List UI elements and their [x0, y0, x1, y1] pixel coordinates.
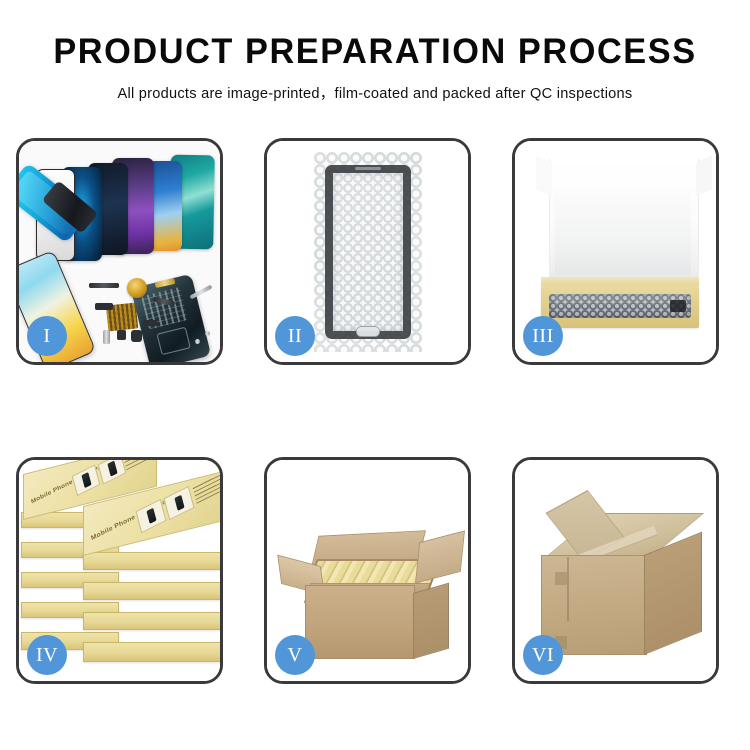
page-subtitle: All products are image-printed，film-coat… — [0, 71, 750, 103]
stacked-box — [83, 552, 220, 570]
sim-tray — [103, 330, 110, 344]
foam-insert — [555, 189, 691, 275]
step-badge-6: VI — [523, 635, 563, 675]
carton-seam — [567, 557, 569, 621]
box-artwork-right — [163, 486, 194, 520]
carton-side-face — [413, 583, 449, 659]
step-badge-5: V — [275, 635, 315, 675]
earpiece-mesh — [143, 320, 157, 326]
box-artwork-left — [72, 464, 101, 496]
stacked-box — [83, 642, 220, 662]
box-spec-text — [122, 460, 154, 470]
page-title: PRODUCT PREPARATION PROCESS — [8, 0, 743, 71]
step-badge-2: II — [275, 316, 315, 356]
stacked-box — [83, 582, 220, 600]
process-step-panel-3: III — [512, 138, 719, 365]
page-header: PRODUCT PREPARATION PROCESS All products… — [0, 0, 750, 103]
step-badge-4: IV — [27, 635, 67, 675]
process-step-panel-5: V — [264, 457, 471, 684]
stacked-box — [83, 612, 220, 630]
screw-1 — [195, 339, 200, 344]
wireless-charging-coil — [127, 278, 147, 298]
box-spec-text — [192, 472, 220, 504]
process-step-panel-6: VI — [512, 457, 719, 684]
process-step-panel-2: II — [264, 138, 471, 365]
process-step-grid: I II III — [16, 138, 734, 684]
screw-2 — [205, 331, 210, 336]
wrapped-screen — [325, 165, 411, 339]
box-artwork-right — [98, 460, 127, 485]
carton-front-face — [305, 585, 415, 659]
flex-cable-1 — [89, 283, 119, 288]
step-badge-1: I — [27, 316, 67, 356]
carton-tab-top — [555, 572, 567, 585]
packed-screen — [549, 294, 691, 318]
step-badge-3: III — [523, 316, 563, 356]
vibration-motor — [131, 330, 142, 342]
process-step-panel-4: Mobile Phone Spare Parts Mobile Phone Sp… — [16, 457, 223, 684]
process-step-panel-1: I — [16, 138, 223, 365]
camera-module — [95, 303, 113, 310]
speaker-unit — [117, 330, 126, 340]
box-artwork-left — [135, 499, 166, 533]
